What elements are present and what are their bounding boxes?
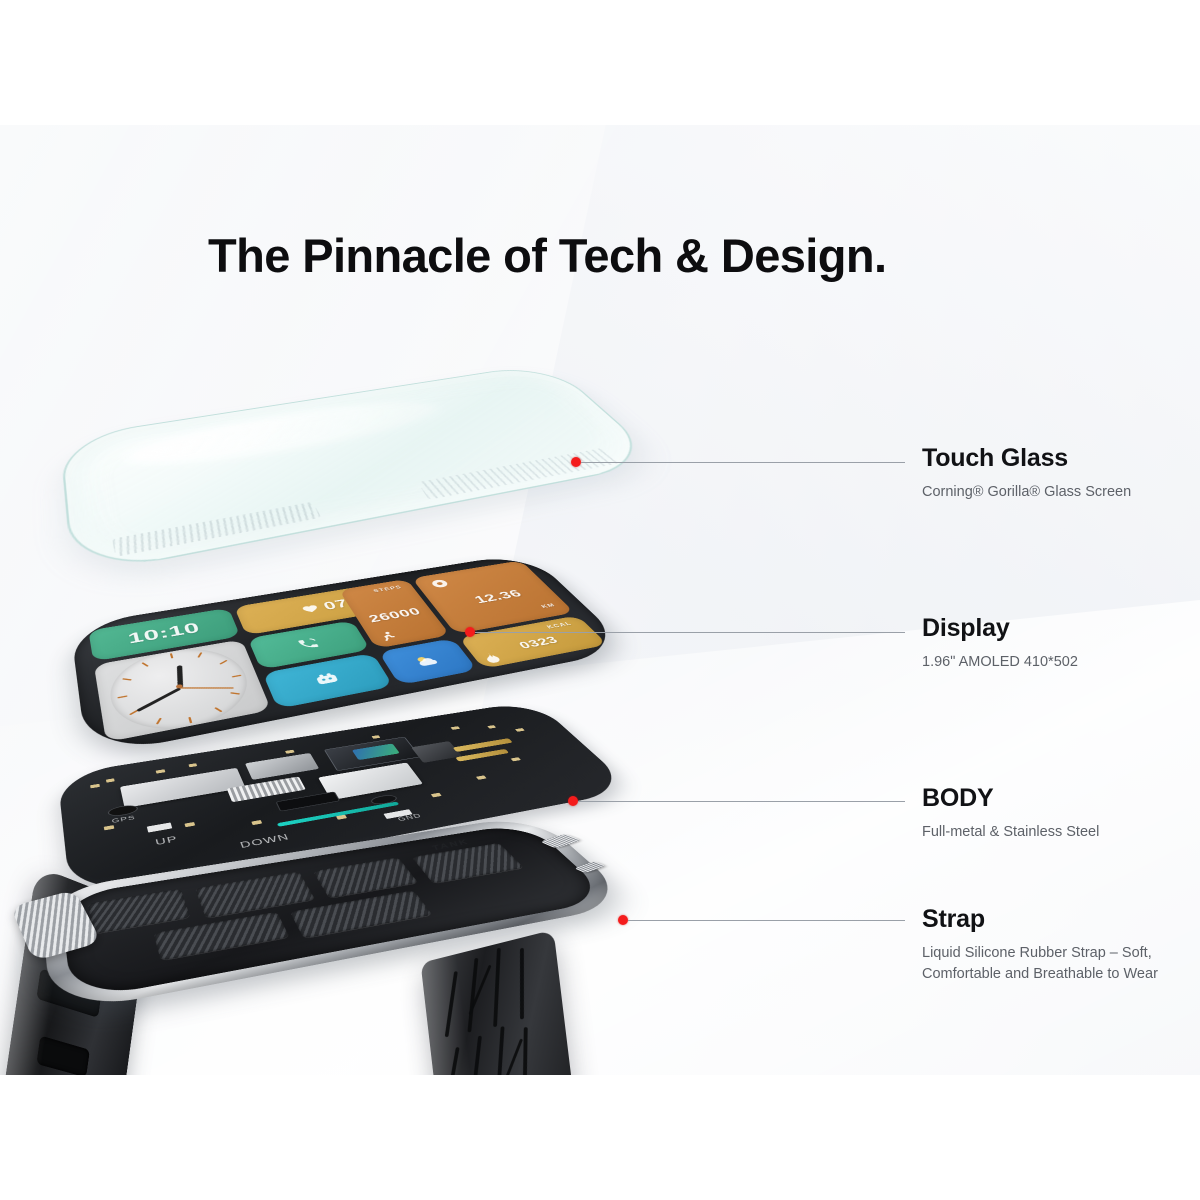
strap-right — [421, 930, 587, 1075]
callout-line-strap — [628, 920, 905, 921]
callout-touch-glass: Touch Glass Corning® Gorilla® Glass Scre… — [922, 445, 1131, 503]
callout-strap: Strap Liquid Silicone Rubber Strap – Sof… — [922, 906, 1158, 986]
callout-subtitle-touch-glass: Corning® Gorilla® Glass Screen — [922, 482, 1131, 504]
time-value: 10:10 — [126, 620, 202, 648]
callout-dot-body — [568, 796, 578, 806]
steps-caption: STEPS — [372, 585, 403, 593]
callout-line-display — [475, 632, 905, 633]
callout-line-body — [578, 801, 905, 802]
callout-title-body: BODY — [922, 785, 1099, 813]
callout-title-touch-glass: Touch Glass — [922, 445, 1131, 473]
running-icon — [377, 631, 398, 643]
location-pin-icon — [427, 577, 453, 589]
touch-glass-layer — [60, 362, 664, 577]
phone-icon — [295, 636, 323, 651]
callout-dot-display — [465, 627, 475, 637]
heart-icon — [301, 604, 321, 614]
product-infographic: The Pinnacle of Tech & Design. 10:10 — [0, 0, 1200, 1200]
callout-dot-touch-glass — [571, 457, 581, 467]
weather-cloud-sun-icon — [412, 653, 443, 669]
callout-subtitle-body: Full-metal & Stainless Steel — [922, 822, 1099, 844]
clock-second-hand — [180, 687, 234, 688]
glass-surface — [60, 362, 664, 577]
watch-body-layer: TANK — [0, 735, 760, 1075]
callout-display: Display 1.96ʺ AMOLED 410*502 — [922, 615, 1078, 673]
glass-highlight — [124, 392, 450, 476]
callout-dot-strap — [618, 915, 628, 925]
callout-subtitle-strap: Liquid Silicone Rubber Strap – Soft, Com… — [922, 943, 1158, 987]
steps-value: 26000 — [366, 606, 423, 625]
callout-line-touch-glass — [581, 462, 905, 463]
callout-body: BODY Full-metal & Stainless Steel — [922, 785, 1099, 843]
kcal-value: 0323 — [516, 634, 562, 651]
distance-unit: KM — [540, 603, 557, 609]
glass-etch-right — [417, 448, 619, 500]
callout-title-strap: Strap — [922, 906, 1158, 934]
kcal-caption: KCAL — [546, 621, 574, 630]
distance-value: 12.36 — [472, 588, 526, 606]
glass-etch-left — [112, 502, 321, 557]
callout-subtitle-display: 1.96ʺ AMOLED 410*502 — [922, 652, 1078, 674]
message-icon — [313, 672, 342, 688]
clock-minute-hand — [136, 687, 182, 712]
flame-icon — [482, 652, 503, 664]
callout-title-display: Display — [922, 615, 1078, 643]
